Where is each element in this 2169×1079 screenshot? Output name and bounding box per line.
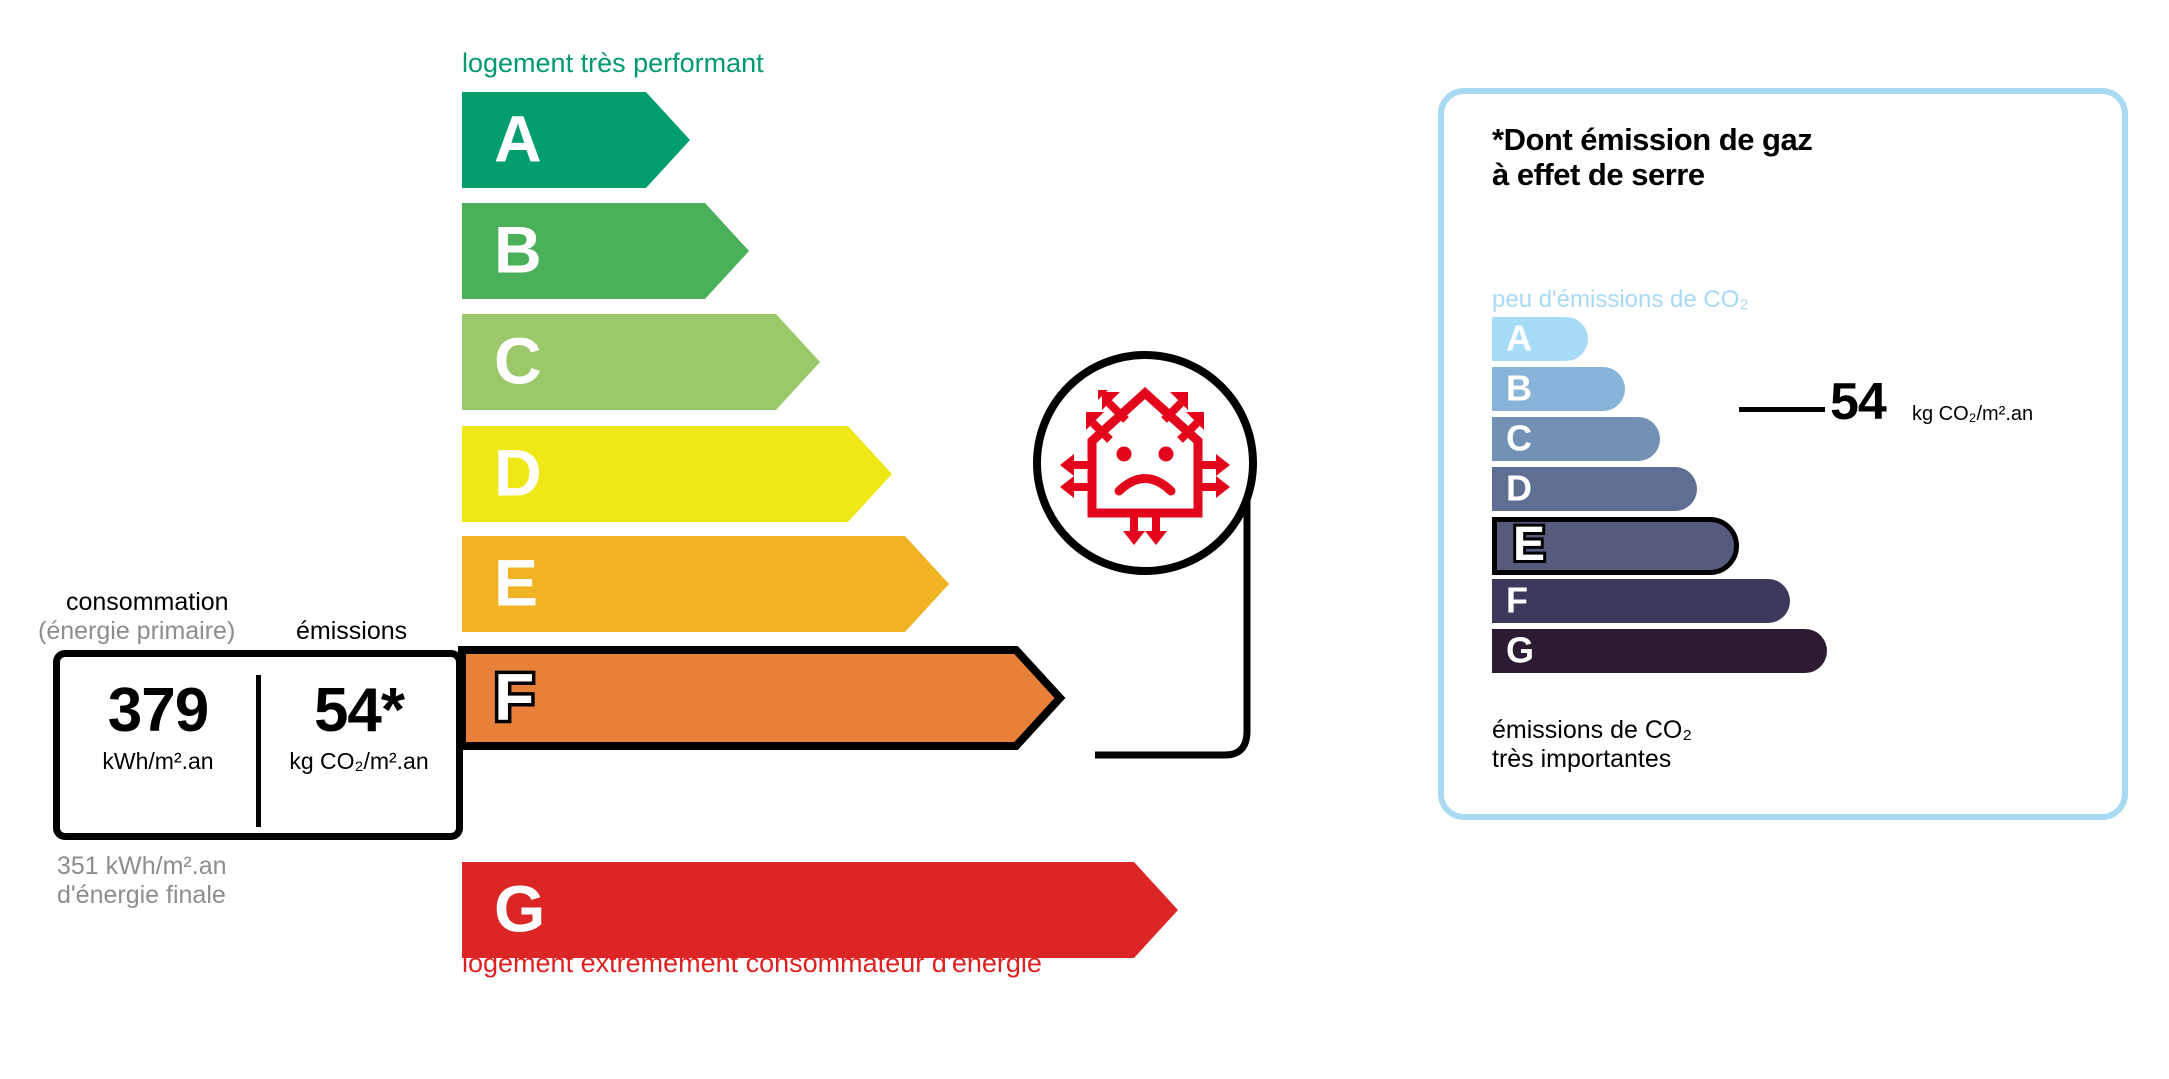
ghg-bar-letter: F — [1506, 582, 1528, 618]
primary-energy-cell: 379 kWh/m².an — [60, 675, 256, 776]
ghg-leader-line — [1739, 407, 1825, 412]
energy-band-b[interactable]: B — [462, 203, 749, 299]
ghg-bar-letter: D — [1506, 470, 1532, 506]
ghg-bar-d[interactable]: D — [1492, 467, 1697, 511]
energy-band-e[interactable]: E — [462, 536, 949, 632]
primary-energy-value: 379 — [60, 675, 256, 746]
ghg-bottom-caption: émissions de CO₂ très importantes — [1492, 716, 1692, 774]
energy-band-c[interactable]: C — [462, 314, 820, 410]
energy-scale-top-caption: logement très performant — [462, 48, 764, 79]
label-energie-primaire: (énergie primaire) — [38, 617, 235, 646]
ghg-bar-letter: E — [1513, 521, 1545, 569]
ghg-emission-panel: *Dont émission de gaz à effet de serre p… — [1438, 88, 2128, 820]
ghg-bar-letter: C — [1506, 420, 1532, 456]
ghg-top-caption: peu d'émissions de CO₂ — [1492, 286, 1749, 314]
final-energy-label: d'énergie finale — [57, 881, 226, 910]
ghg-value: 54 — [1830, 376, 1886, 428]
energy-band-a[interactable]: A — [462, 92, 690, 188]
sad-house-heat-loss-icon — [1030, 348, 1260, 578]
primary-energy-unit: kWh/m².an — [60, 748, 256, 776]
ghg-bar-f[interactable]: F — [1492, 579, 1790, 623]
energy-band-f[interactable]: F — [462, 650, 1060, 746]
energy-scale: logement très performant ABCDEFG logemen… — [0, 0, 1300, 1079]
ghg-bar-letter: A — [1506, 320, 1532, 356]
ghg-bar-letter: B — [1506, 370, 1532, 406]
ghg-bar-g[interactable]: G — [1492, 629, 1827, 673]
label-consommation: consommation — [66, 588, 229, 617]
energy-band-letter: G — [494, 876, 545, 942]
ghg-bar-b[interactable]: B — [1492, 367, 1625, 411]
energy-band-letter: F — [494, 664, 534, 730]
energy-band-letter: C — [494, 328, 542, 394]
ghg-bar-c[interactable]: C — [1492, 417, 1660, 461]
ghg-bar-letter: G — [1506, 632, 1534, 668]
energy-band-letter: A — [494, 106, 542, 172]
energy-scale-bottom-caption: logement extrêmement consommateur d'éner… — [462, 948, 1042, 979]
final-energy-value: 351 kWh/m².an — [57, 852, 227, 881]
energy-band-g[interactable]: G — [462, 862, 1178, 958]
ghg-panel-title: *Dont émission de gaz à effet de serre — [1492, 122, 1812, 193]
label-emissions: émissions — [296, 617, 407, 646]
ghg-bar-e[interactable]: E — [1492, 517, 1739, 575]
energy-band-letter: D — [494, 440, 542, 506]
consumption-summary-box: 379 kWh/m².an 54* kg CO₂/m².an — [53, 650, 463, 840]
energy-band-letter: B — [494, 217, 542, 283]
energy-band-letter: E — [494, 550, 538, 616]
ghg-bar-a[interactable]: A — [1492, 317, 1588, 361]
energy-band-d[interactable]: D — [462, 426, 892, 522]
emission-value: 54* — [261, 675, 457, 746]
emission-unit: kg CO₂/m².an — [261, 748, 457, 776]
emission-cell: 54* kg CO₂/m².an — [261, 675, 457, 776]
ghg-value-unit: kg CO₂/m².an — [1912, 403, 2033, 426]
